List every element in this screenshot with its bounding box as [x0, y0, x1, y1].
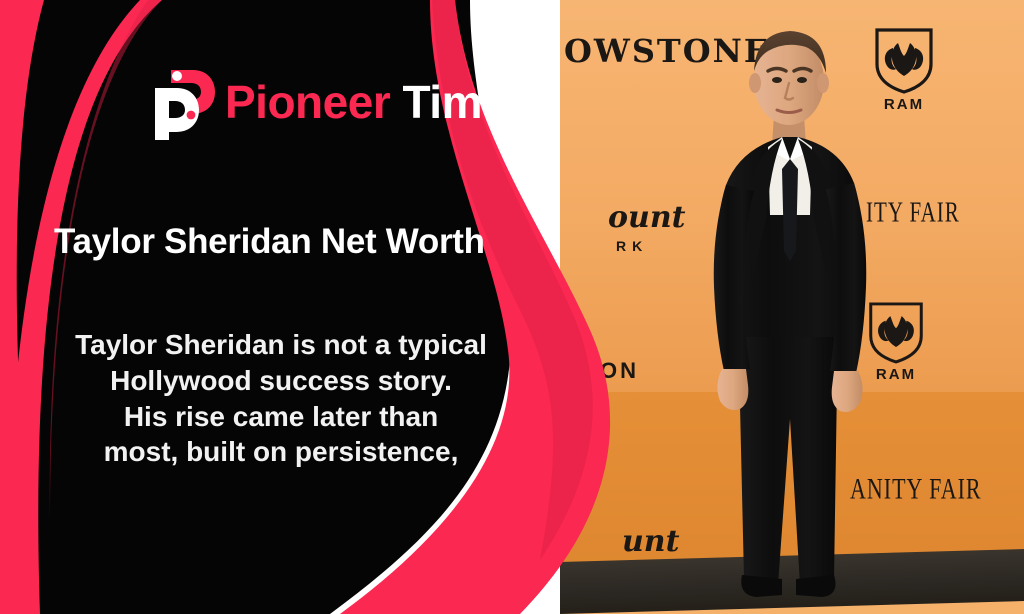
excerpt-line-4: most, built on persistence, — [46, 434, 516, 470]
promo-graphic: OWSTONE ount RK ITY FAIR ON ANITY FAIR u… — [0, 0, 1024, 614]
page-title: Taylor Sheridan Net Worth — [54, 222, 574, 262]
brand-name-first: Pioneer — [225, 76, 390, 128]
subject-figure — [678, 19, 898, 604]
brand-logo-text: Pioneer Time — [225, 79, 507, 125]
brand-name-second: Time — [403, 76, 508, 128]
article-excerpt: Taylor Sheridan is not a typical Hollywo… — [46, 327, 516, 470]
brand-logo[interactable]: Pioneer Time — [141, 60, 507, 144]
excerpt-line-1: Taylor Sheridan is not a typical — [46, 327, 516, 363]
excerpt-line-3: His rise came later than — [46, 399, 516, 435]
pioneer-p-monogram-icon — [141, 60, 219, 144]
excerpt-line-2: Hollywood success story. — [46, 363, 516, 399]
